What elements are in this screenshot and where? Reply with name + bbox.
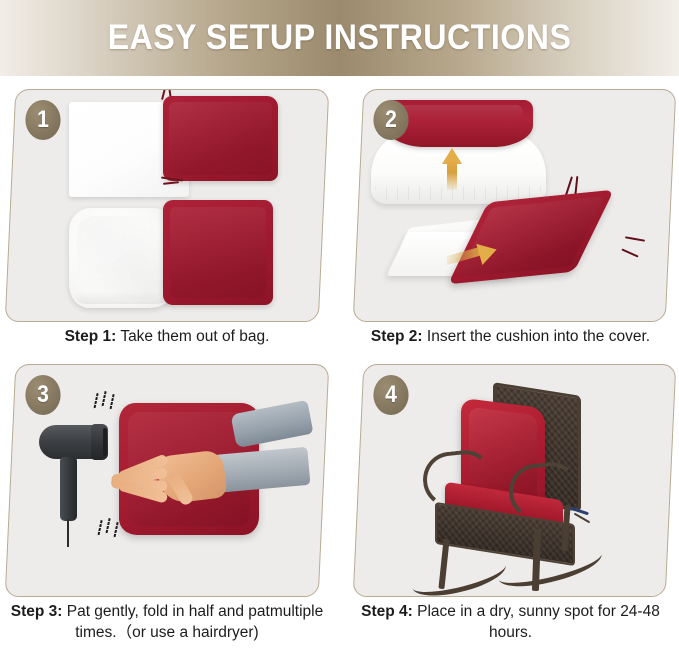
hairdryer-handle	[60, 457, 77, 521]
step-caption-1-label: Step 1:	[65, 328, 117, 345]
step-caption-3-label: Step 3:	[11, 603, 63, 620]
step-badge-4: 4	[373, 375, 408, 415]
step-caption-1: Step 1: Take them out of bag.	[8, 326, 326, 347]
cover-strap-icon	[625, 236, 645, 241]
header-banner: EASY SETUP INSTRUCTIONS	[0, 0, 679, 76]
white-pillow-insert-image	[69, 208, 174, 308]
step-panel-2-content: 2	[359, 90, 670, 321]
step-panel-2[interactable]: 2	[353, 89, 677, 322]
arrow-head	[476, 239, 499, 265]
hairdryer-nozzle	[91, 424, 108, 460]
step-panel-1-content: 1	[11, 90, 323, 321]
hairdryer-cord	[67, 519, 69, 547]
step-panel-1[interactable]: 1	[5, 89, 330, 322]
wicker-rocking-chair-image	[411, 379, 626, 584]
step-panel-4[interactable]: 4	[353, 364, 677, 597]
step-badge-2: 2	[373, 100, 408, 140]
step-badge-3: 3	[25, 375, 60, 415]
step-panel-3[interactable]: 3	[5, 364, 330, 597]
step-caption-2-label: Step 2:	[371, 328, 423, 345]
step-caption-2: Step 2: Insert the cushion into the cove…	[348, 326, 673, 347]
arrow-shaft	[447, 161, 457, 190]
arrow-diagonal-icon	[447, 242, 499, 268]
step-caption-1-text: Take them out of bag.	[120, 328, 269, 345]
red-cushion-cover-image	[163, 96, 278, 181]
steps-grid: 1 2	[0, 76, 679, 652]
step-caption-4-text: Place in a dry, sunny spot for	[417, 603, 616, 620]
red-seat-cushion-image	[163, 200, 273, 305]
step-panel-4-content: 4	[359, 365, 670, 596]
step-panel-3-content: 3	[11, 365, 323, 596]
step-caption-3-text: Pat gently, fold in half and	[67, 603, 244, 620]
step-caption-4: Step 4: Place in a dry, sunny spot for 2…	[348, 601, 673, 643]
cover-strap-icon	[621, 248, 638, 257]
page-title: EASY SETUP INSTRUCTIONS	[27, 0, 652, 76]
step-caption-2-text: Insert the cushion into the cover.	[427, 328, 650, 345]
step-badge-1: 1	[25, 100, 60, 140]
arrow-up-icon	[442, 148, 462, 190]
chair-rocker-rail	[409, 550, 510, 597]
step-caption-4-label: Step 4:	[361, 603, 413, 620]
step-caption-3: Step 3: Pat gently, fold in half and pat…	[8, 601, 326, 643]
